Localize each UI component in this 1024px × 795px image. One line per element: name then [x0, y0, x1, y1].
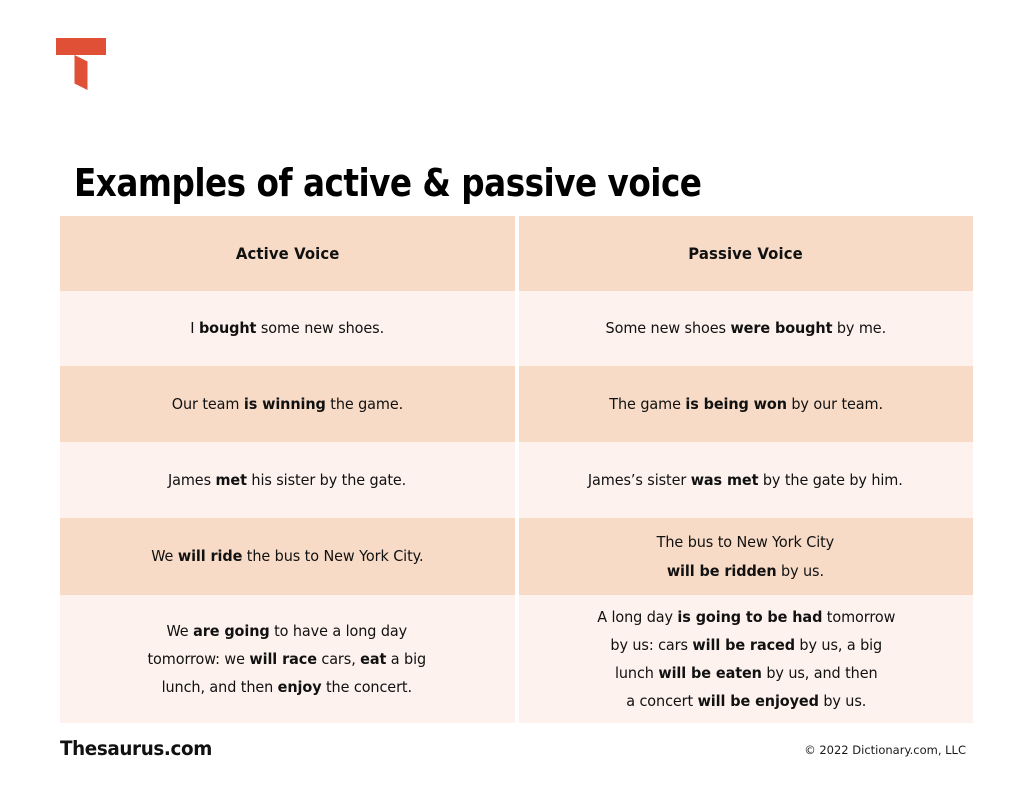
- cell-active-voice-text: Our team is winning the game.: [172, 390, 403, 418]
- cell-passive-voice-text: The game is being won by our team.: [609, 390, 883, 418]
- page-title: Examples of active & passive voice: [74, 161, 701, 205]
- cell-active-voice: We are going to have a long daytomorrow:…: [60, 595, 515, 723]
- cell-passive-voice: James’s sister was met by the gate by hi…: [519, 442, 974, 518]
- page-root: Examples of active & passive voice Activ…: [0, 0, 1024, 795]
- cell-active-voice: James met his sister by the gate.: [60, 442, 515, 518]
- column-header-active-voice: Active Voice: [60, 216, 515, 291]
- cell-passive-voice: The game is being won by our team.: [519, 366, 974, 442]
- thesaurus-t-logo-icon: [56, 38, 106, 90]
- column-header-passive-voice-label: Passive Voice: [688, 239, 802, 268]
- cell-active-voice: I bought some new shoes.: [60, 291, 515, 366]
- cell-active-voice: We will ride the bus to New York City.: [60, 518, 515, 595]
- table-row: We are going to have a long daytomorrow:…: [60, 595, 973, 723]
- cell-active-voice: Our team is winning the game.: [60, 366, 515, 442]
- table-header-row: Active Voice Passive Voice: [60, 216, 973, 291]
- cell-passive-voice: A long day is going to be had tomorrowby…: [519, 595, 974, 723]
- table-row: James met his sister by the gate. James’…: [60, 442, 973, 518]
- table-row: Our team is winning the game. The game i…: [60, 366, 973, 442]
- cell-active-voice-text: James met his sister by the gate.: [168, 466, 406, 494]
- cell-passive-voice-text: James’s sister was met by the gate by hi…: [588, 466, 903, 494]
- cell-passive-voice-text: The bus to New York Citywill be ridden b…: [657, 528, 834, 584]
- cell-passive-voice: The bus to New York Citywill be ridden b…: [519, 518, 974, 595]
- active-passive-voice-table: Active Voice Passive Voice I bought some…: [60, 216, 973, 723]
- cell-passive-voice-text: A long day is going to be had tomorrowby…: [597, 603, 895, 716]
- cell-active-voice-text: We will ride the bus to New York City.: [151, 542, 423, 570]
- table-row: We will ride the bus to New York City. T…: [60, 518, 973, 595]
- footer-copyright: © 2022 Dictionary.com, LLC: [804, 743, 966, 757]
- table-row: I bought some new shoes. Some new shoes …: [60, 291, 973, 366]
- column-header-active-voice-label: Active Voice: [235, 239, 339, 268]
- cell-passive-voice-text: Some new shoes were bought by me.: [605, 314, 886, 342]
- cell-active-voice-text: I bought some new shoes.: [190, 314, 384, 342]
- footer-wordmark: Thesaurus.com: [60, 737, 212, 760]
- cell-passive-voice: Some new shoes were bought by me.: [519, 291, 974, 366]
- cell-active-voice-text: We are going to have a long daytomorrow:…: [148, 617, 427, 702]
- column-header-passive-voice: Passive Voice: [519, 216, 974, 291]
